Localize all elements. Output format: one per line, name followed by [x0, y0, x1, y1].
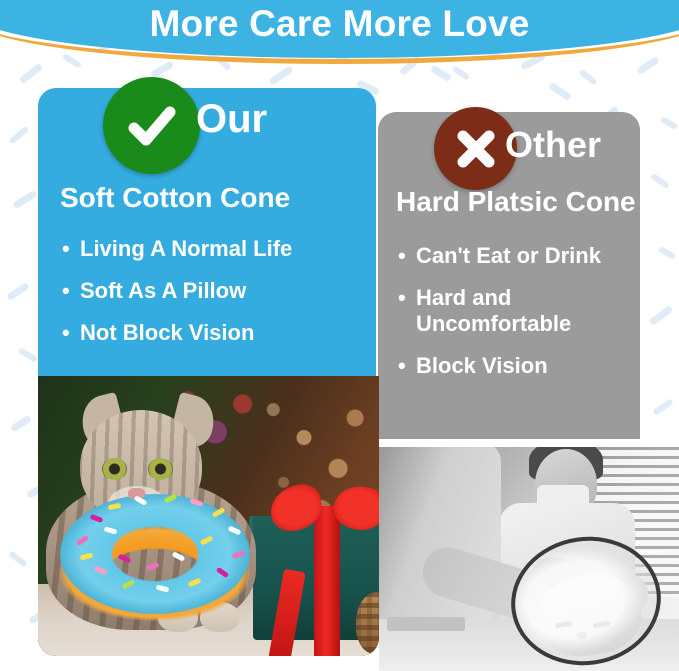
cat-eye [148, 458, 173, 480]
our-label: Our [196, 97, 267, 142]
list-item: Soft As A Pillow [62, 278, 362, 304]
list-item: Not Block Vision [62, 320, 362, 346]
list-item: Living A Normal Life [62, 236, 362, 262]
our-benefit-list: Living A Normal Life Soft As A Pillow No… [62, 236, 362, 362]
other-drawback-list: Can't Eat or Drink Hard and Uncomfortabl… [398, 243, 653, 395]
gift-ribbon [314, 506, 340, 656]
infographic-root: More Care More Love Our Soft Cotton Cone… [0, 0, 679, 671]
our-subtitle: Soft Cotton Cone [60, 182, 290, 214]
list-item: Hard and Uncomfortable [398, 285, 653, 337]
comparison-panels: Our Soft Cotton Cone Living A Normal Lif… [0, 0, 679, 671]
other-product-photo [379, 447, 679, 671]
list-item: Can't Eat or Drink [398, 243, 653, 269]
list-item: Block Vision [398, 353, 653, 379]
our-product-photo [38, 376, 379, 656]
cat-eye [102, 458, 127, 480]
other-subtitle: Hard Platsic Cone [396, 186, 636, 218]
exam-scale [387, 617, 465, 631]
check-circle-icon [103, 77, 200, 174]
other-label: Other [505, 124, 601, 166]
